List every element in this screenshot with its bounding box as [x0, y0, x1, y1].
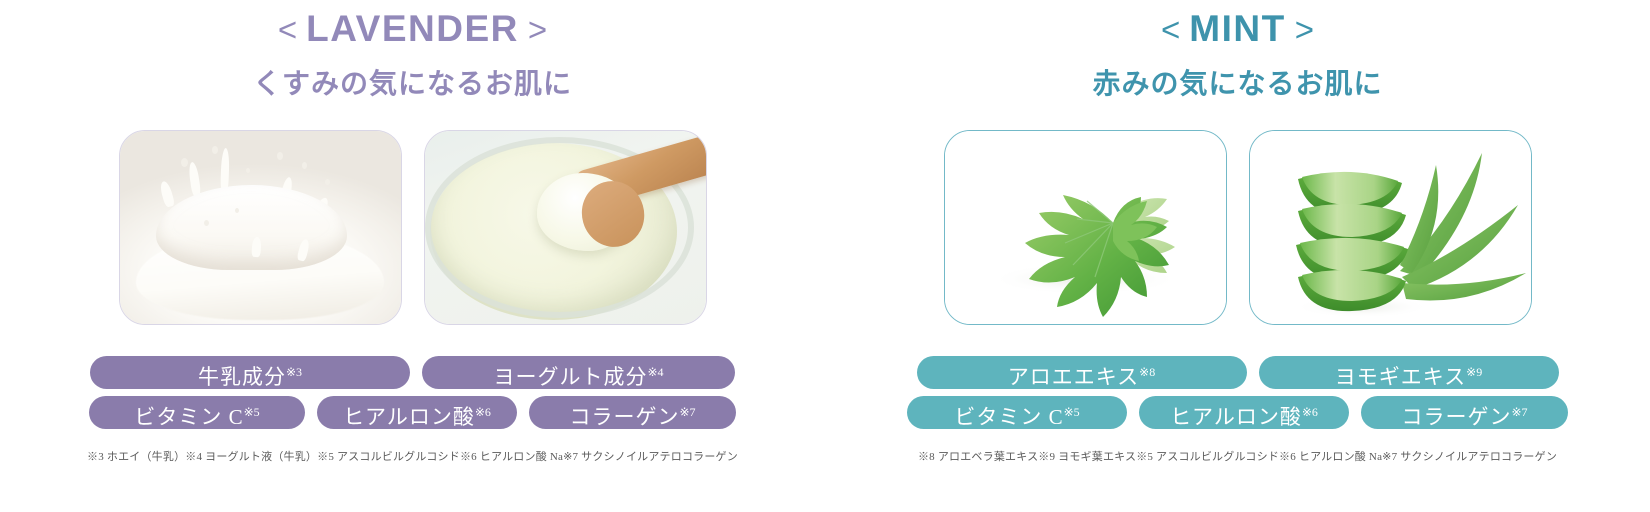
- panel-subtitle-lavender: くすみの気になるお肌に: [0, 62, 825, 102]
- ingredient-pill-label: 牛乳成分: [198, 365, 286, 389]
- ingredient-pill-label: ビタミン C: [134, 405, 243, 429]
- ingredient-pill[interactable]: ヒアルロン酸※6: [317, 396, 517, 429]
- ingredient-pill[interactable]: ビタミン C※5: [89, 396, 305, 429]
- ingredient-pill[interactable]: 牛乳成分※3: [90, 356, 410, 389]
- ingredient-pill-label: ヨモギエキス: [1335, 365, 1466, 389]
- pill-row: アロエエキス※8 ヨモギエキス※9: [825, 356, 1650, 389]
- ingredient-pill[interactable]: ビタミン C※5: [907, 396, 1127, 429]
- ingredient-pill[interactable]: ヒアルロン酸※6: [1139, 396, 1349, 429]
- panel-subtitle-mint: 赤みの気になるお肌に: [825, 62, 1650, 102]
- bracket-close-icon: >: [1286, 11, 1323, 48]
- ingredient-pill-note: ※4: [647, 365, 663, 379]
- ingredient-pill-label: アロエエキス: [1008, 365, 1139, 389]
- ingredient-pill[interactable]: アロエエキス※8: [917, 356, 1247, 389]
- yogurt-bowl-photo: [425, 131, 706, 324]
- aloe-slices-photo: [1250, 131, 1531, 324]
- ingredient-pill-group-lavender: 牛乳成分※3 ヨーグルト成分※4 ビタミン C※5 ヒアルロン酸※6 コラーゲン…: [0, 356, 825, 436]
- ingredient-pill-note: ※7: [679, 405, 695, 419]
- ingredient-pill[interactable]: ヨモギエキス※9: [1259, 356, 1559, 389]
- ingredient-pill-note: ※9: [1466, 365, 1482, 379]
- bracket-open-icon: <: [269, 11, 306, 48]
- ingredient-pill-group-mint: アロエエキス※8 ヨモギエキス※9 ビタミン C※5 ヒアルロン酸※6 コラーゲ…: [825, 356, 1650, 436]
- image-card-mugwort: [944, 130, 1227, 325]
- panel-title-lavender: <LAVENDER>: [0, 8, 825, 50]
- pill-row: ビタミン C※5 ヒアルロン酸※6 コラーゲン※7: [0, 396, 825, 429]
- ingredient-pill-label: ヨーグルト成分: [493, 365, 647, 389]
- milk-splash-photo: [120, 131, 401, 324]
- ingredient-pill[interactable]: ヨーグルト成分※4: [422, 356, 735, 389]
- ingredient-pill-note: ※3: [286, 365, 302, 379]
- ingredient-pill-note: ※6: [475, 405, 491, 419]
- ingredient-pill-label: コラーゲン: [569, 405, 679, 429]
- panel-lavender: <LAVENDER> くすみの気になるお肌に: [0, 0, 825, 512]
- footnote-lavender: ※3 ホエイ（牛乳）※4 ヨーグルト液（牛乳）※5 アスコルビルグルコシド※6 …: [0, 448, 825, 464]
- pill-row: ビタミン C※5 ヒアルロン酸※6 コラーゲン※7: [825, 396, 1650, 429]
- ingredient-pill-note: ※5: [244, 405, 260, 419]
- panel-title-text: LAVENDER: [306, 8, 519, 49]
- ingredient-pill[interactable]: コラーゲン※7: [1361, 396, 1568, 429]
- ingredient-comparison-page: <LAVENDER> くすみの気になるお肌に: [0, 0, 1650, 512]
- ingredient-pill[interactable]: コラーゲン※7: [529, 396, 736, 429]
- panel-title-text: MINT: [1189, 8, 1285, 49]
- ingredient-pill-note: ※6: [1302, 405, 1318, 419]
- image-card-group-mint: [825, 130, 1650, 330]
- footnote-mint: ※8 アロエベラ葉エキス※9 ヨモギ葉エキス※5 アスコルビルグルコシド※6 ヒ…: [825, 448, 1650, 464]
- image-card-aloe: [1249, 130, 1532, 325]
- image-card-group-lavender: [0, 130, 825, 330]
- ingredient-pill-label: ビタミン C: [954, 405, 1063, 429]
- ingredient-pill-note: ※8: [1139, 365, 1155, 379]
- bracket-close-icon: >: [519, 11, 556, 48]
- pill-row: 牛乳成分※3 ヨーグルト成分※4: [0, 356, 825, 389]
- panel-title-mint: <MINT>: [825, 8, 1650, 50]
- ingredient-pill-label: コラーゲン: [1401, 405, 1511, 429]
- ingredient-pill-label: ヒアルロン酸: [343, 405, 475, 429]
- panel-mint: <MINT> 赤みの気になるお肌に: [825, 0, 1650, 512]
- image-card-yogurt: [424, 130, 707, 325]
- ingredient-pill-note: ※5: [1064, 405, 1080, 419]
- ingredient-pill-label: ヒアルロン酸: [1170, 405, 1302, 429]
- ingredient-pill-note: ※7: [1511, 405, 1527, 419]
- mugwort-leaf-photo: [945, 131, 1226, 324]
- image-card-milk: [119, 130, 402, 325]
- bracket-open-icon: <: [1152, 11, 1189, 48]
